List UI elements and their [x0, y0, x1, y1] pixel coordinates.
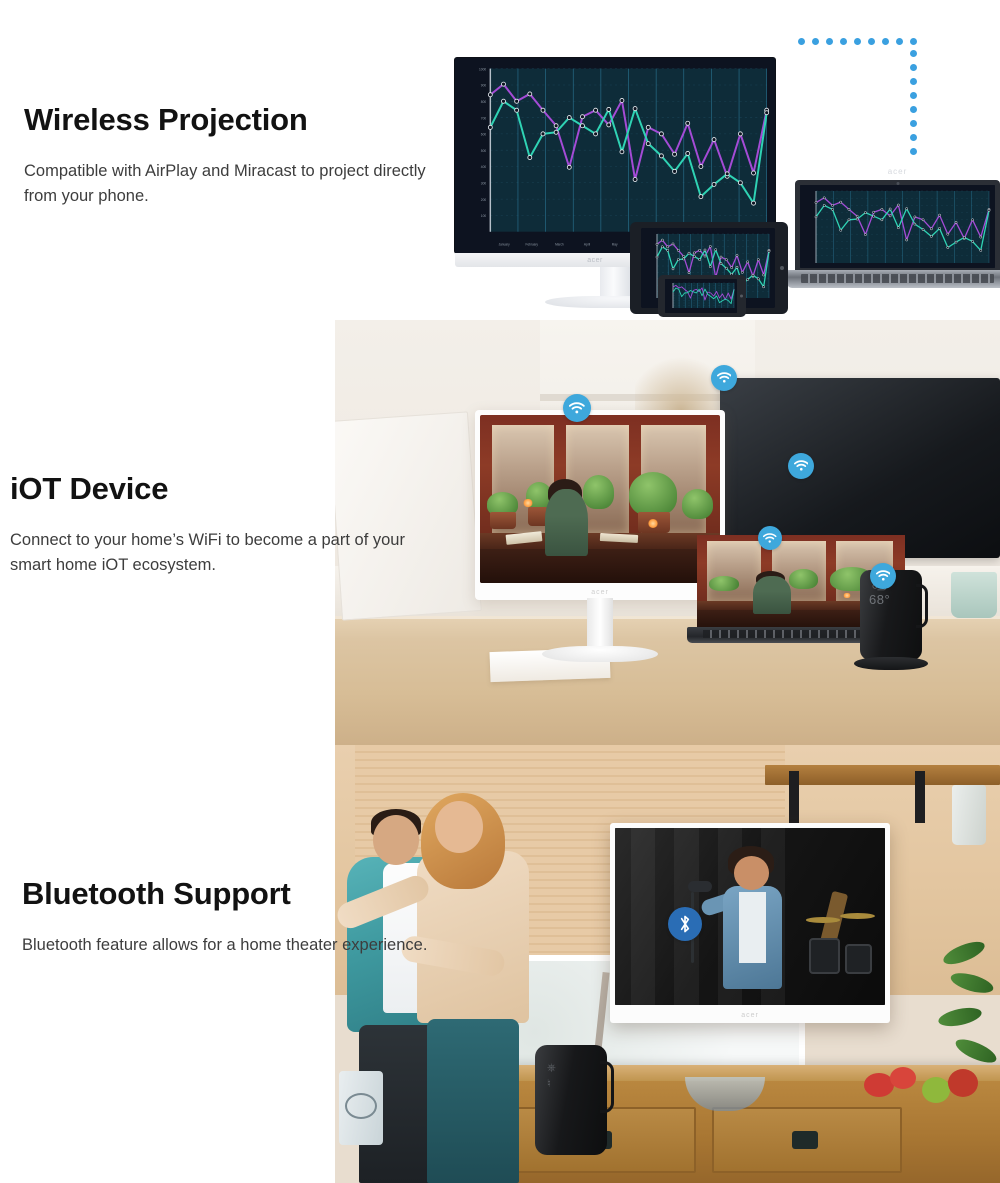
tablet-home-button[interactable] — [780, 266, 784, 270]
wifi-badge-tv-top[interactable] — [711, 365, 737, 391]
laptop-keyboard-deck — [787, 270, 1000, 288]
wifi-icon — [717, 372, 732, 383]
cymbal — [806, 917, 841, 923]
leaf — [941, 937, 988, 968]
person-reading — [753, 576, 790, 614]
glass-jar — [952, 785, 986, 845]
bluetooth-badge[interactable] — [668, 907, 702, 941]
monitor-stand-neck — [600, 267, 630, 299]
laptop-chart-screen — [800, 185, 995, 268]
plant — [789, 569, 818, 589]
shelf-plank — [765, 765, 1000, 785]
laptop: acer — [795, 180, 1000, 288]
plant-pot — [490, 512, 516, 529]
iot-body: Connect to your home’s WiFi to become a … — [10, 528, 430, 578]
shelf-bracket — [789, 771, 799, 823]
monitor-brand-label: acer — [575, 254, 615, 266]
artwork-rainy-window — [480, 415, 720, 583]
phone-chart-screen — [665, 279, 737, 313]
bluetooth-monitor-frame: acer — [610, 823, 890, 1023]
connector-dot — [840, 38, 847, 45]
bluetooth-monitor-brand-label: acer — [610, 1012, 890, 1019]
bluetooth-scene-photo: acer ⎈♮ — [335, 745, 1000, 1183]
iot-monitor-stand-neck — [587, 598, 613, 648]
connector-dot — [910, 120, 917, 127]
laptop-keys — [801, 274, 994, 283]
shelf-bracket — [915, 771, 925, 823]
bluetooth-heading: Bluetooth Support — [22, 877, 427, 911]
singer-tee — [739, 892, 766, 963]
connector-dot — [910, 148, 917, 155]
connector-dot — [910, 134, 917, 141]
plant — [629, 472, 677, 516]
candle-light — [843, 593, 851, 598]
candle-light — [648, 519, 658, 527]
connector-dot — [826, 38, 833, 45]
connector-dot — [868, 38, 875, 45]
plant — [682, 489, 713, 519]
plant-pot — [951, 572, 997, 618]
svg-text:900: 900 — [481, 84, 487, 88]
svg-text:January: January — [499, 243, 510, 247]
speaker-handle — [916, 584, 928, 628]
speaker-controls[interactable]: ⎈♮ — [547, 1061, 556, 1093]
iot-scene-photo: acer — [335, 320, 1000, 745]
iot-copy-block: iOT Device Connect to your home’s WiFi t… — [10, 472, 430, 578]
svg-text:400: 400 — [481, 165, 487, 169]
connector-dot — [896, 38, 903, 45]
wifi-icon — [876, 570, 891, 581]
woman-jeans — [427, 1019, 519, 1183]
phone-home-button[interactable] — [740, 295, 743, 298]
connector-dot — [910, 92, 917, 99]
svg-text:March: March — [555, 243, 564, 247]
plant — [709, 576, 738, 591]
connector-dot — [854, 38, 861, 45]
stage-panel — [631, 828, 655, 1005]
cymbal — [840, 913, 875, 919]
svg-text:1000: 1000 — [479, 67, 486, 71]
wifi-badge-monitor[interactable] — [563, 394, 591, 422]
svg-text:600: 600 — [481, 133, 487, 137]
svg-text:700: 700 — [481, 116, 487, 120]
iot-monitor-frame: acer — [475, 410, 725, 600]
drum-kit — [804, 913, 880, 987]
svg-text:500: 500 — [481, 149, 487, 153]
connector-dot — [798, 38, 805, 45]
bluetooth-speaker: ⎈♮ — [535, 1045, 607, 1163]
leaf — [937, 1005, 983, 1030]
woman-head — [435, 801, 483, 853]
hanging-plant — [936, 935, 1000, 1085]
concert-scene — [615, 828, 885, 1005]
connector-dot — [910, 38, 917, 45]
section-wireless-projection: Wireless Projection Compatible with AirP… — [0, 0, 1000, 320]
microphone — [688, 881, 712, 892]
connector-dot — [882, 38, 889, 45]
leaf — [949, 969, 996, 997]
bottle-label — [345, 1093, 377, 1119]
wireless-copy-block: Wireless Projection Compatible with AirP… — [24, 103, 444, 209]
man-head — [373, 815, 419, 865]
fruit-group — [864, 1067, 984, 1113]
desk-surface — [480, 549, 720, 583]
drum — [845, 944, 872, 974]
wifi-icon — [763, 533, 776, 543]
strawberry — [890, 1067, 916, 1089]
wireless-body: Compatible with AirPlay and Miracast to … — [24, 159, 444, 209]
wifi-icon — [794, 460, 809, 471]
bluetooth-monitor: acer — [610, 823, 890, 1023]
iot-monitor: acer — [475, 410, 725, 600]
iot-monitor-screen — [480, 415, 720, 583]
green-apple — [922, 1077, 950, 1103]
bluetooth-body: Bluetooth feature allows for a home thea… — [22, 933, 427, 958]
glass-bottle — [339, 1071, 383, 1145]
speaker-temperature-readout: 68° — [869, 592, 890, 607]
wireless-heading: Wireless Projection — [24, 103, 444, 137]
connector-dot — [910, 106, 917, 113]
svg-text:February: February — [526, 243, 539, 247]
connector-dot — [910, 64, 917, 71]
svg-text:800: 800 — [481, 100, 487, 104]
connector-dot — [910, 78, 917, 85]
wifi-badge-speaker[interactable] — [870, 563, 896, 589]
speaker-handle — [600, 1061, 614, 1113]
svg-text:300: 300 — [481, 181, 487, 185]
bluetooth-monitor-screen — [615, 828, 885, 1005]
product-feature-page: Wireless Projection Compatible with AirP… — [0, 0, 1000, 1183]
speaker-body: ⎈♮ — [535, 1045, 607, 1155]
connector-dot — [910, 50, 917, 57]
drum — [809, 938, 841, 974]
section-iot-device: iOT Device Connect to your home’s WiFi t… — [0, 320, 1000, 745]
iot-monitor-brand-label: acer — [475, 589, 725, 596]
person-reading — [545, 489, 588, 556]
connector-dot — [812, 38, 819, 45]
wifi-icon — [569, 402, 585, 414]
svg-text:May: May — [612, 243, 618, 247]
wireless-device-group: 1000900800700600500400300200100JanuaryFe… — [440, 0, 1000, 320]
phone — [658, 275, 746, 317]
wifi-badge-tv-side[interactable] — [788, 453, 814, 479]
plant — [583, 475, 614, 509]
laptop-lid — [795, 180, 1000, 272]
bluetooth-copy-block: Bluetooth Support Bluetooth feature allo… — [22, 877, 427, 958]
iot-monitor-stand-base — [542, 646, 658, 662]
tomato — [948, 1069, 978, 1097]
svg-text:100: 100 — [481, 214, 487, 218]
leaf — [953, 1035, 1000, 1068]
bluetooth-icon — [677, 914, 693, 934]
speaker-dock — [854, 657, 928, 670]
laptop-brand-label: acer — [888, 167, 908, 176]
svg-text:200: 200 — [481, 198, 487, 202]
svg-text:April: April — [584, 243, 591, 247]
wifi-badge-laptop[interactable] — [758, 526, 782, 550]
drawer-knob[interactable] — [792, 1131, 818, 1149]
iot-heading: iOT Device — [10, 472, 430, 506]
section-bluetooth-support: Bluetooth Support Bluetooth feature allo… — [0, 745, 1000, 1183]
singer-head — [734, 856, 769, 890]
